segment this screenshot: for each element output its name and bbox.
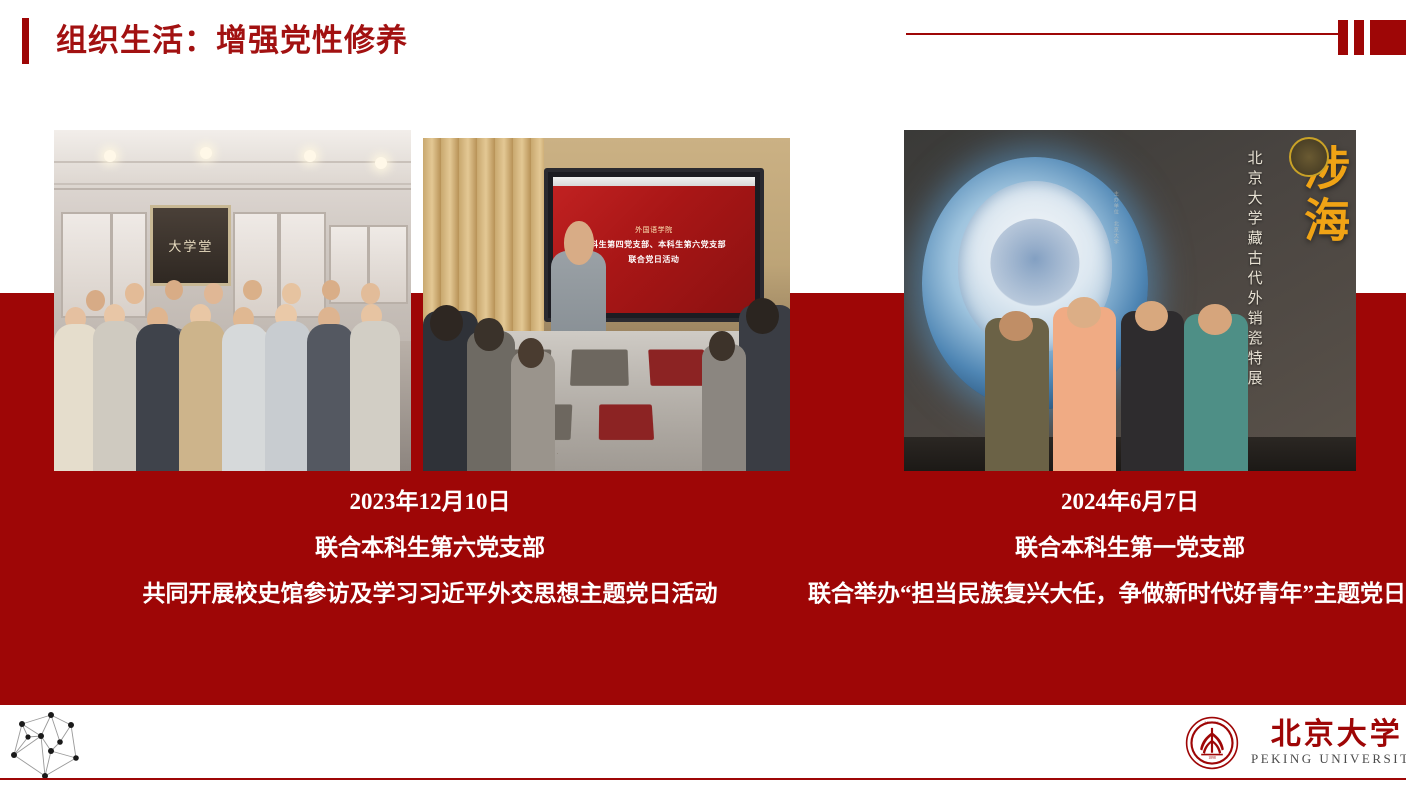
caption-left: 2023年12月10日 联合本科生第六党支部 共同开展校史馆参访及学习习近平外交… — [100, 485, 760, 610]
title-accent-bar — [22, 18, 29, 64]
photo-campus-history-museum-group: 大学堂 — [54, 130, 411, 471]
caption-left-branch: 联合本科生第六党支部 — [100, 530, 760, 566]
title-decor-block-2 — [1354, 20, 1364, 55]
photo-ceramics-exhibition-group: 主办单位 北京大学 北京大学藏古代外销瓷特展 涉海 — [904, 130, 1356, 471]
svg-text:PEKING: PEKING — [1204, 721, 1219, 725]
footer-rule — [0, 778, 1406, 780]
caption-left-date: 2023年12月10日 — [100, 485, 760, 519]
pku-logo: 1898 PEKING 北京大学 PEKING UNIVERSITY — [1185, 714, 1390, 772]
title-decor-block-1 — [1338, 20, 1348, 55]
photo-joint-party-day-meeting: 外国语学院 本科生第四党支部、本科生第六党支部 联合党日活动 — [423, 138, 790, 471]
pku-logo-en: PEKING UNIVERSITY — [1251, 751, 1406, 767]
network-graph-decoration — [8, 710, 98, 780]
museum-sign: 大学堂 — [150, 205, 231, 286]
svg-text:1898: 1898 — [1208, 756, 1216, 760]
page-title: 组织生活：增强党性修养 — [56, 18, 408, 64]
caption-right: 2024年6月7日 联合本科生第一党支部 联合举办“担当民族复兴大任，争做新时代… — [800, 485, 1406, 610]
caption-right-branch: 联合本科生第一党支部 — [800, 530, 1406, 566]
screen-line-2: 本科生第四党支部、本科生第六党支部 — [582, 239, 727, 250]
screen-line-3: 联合党日活动 — [628, 254, 679, 265]
screen-line-1: 外国语学院 — [635, 225, 673, 235]
slide-title-bar: 组织生活：增强党性修养 — [0, 0, 1406, 95]
caption-right-description: 联合举办“担当民族复兴大任，争做新时代好青年”主题党日活动 — [800, 577, 1406, 610]
caption-left-description: 共同开展校史馆参访及学习习近平外交思想主题党日活动 — [100, 577, 760, 610]
pku-seal-icon: 1898 PEKING — [1185, 716, 1239, 770]
pku-seal-on-banner — [1289, 137, 1329, 177]
exhibition-title-vertical: 北京大学藏古代外销瓷特展 — [1245, 150, 1266, 390]
caption-right-date: 2024年6月7日 — [800, 485, 1406, 519]
pku-logo-cn: 北京大学 — [1271, 719, 1403, 751]
title-divider-rule — [906, 33, 1338, 35]
title-decor-block-3 — [1370, 20, 1406, 55]
